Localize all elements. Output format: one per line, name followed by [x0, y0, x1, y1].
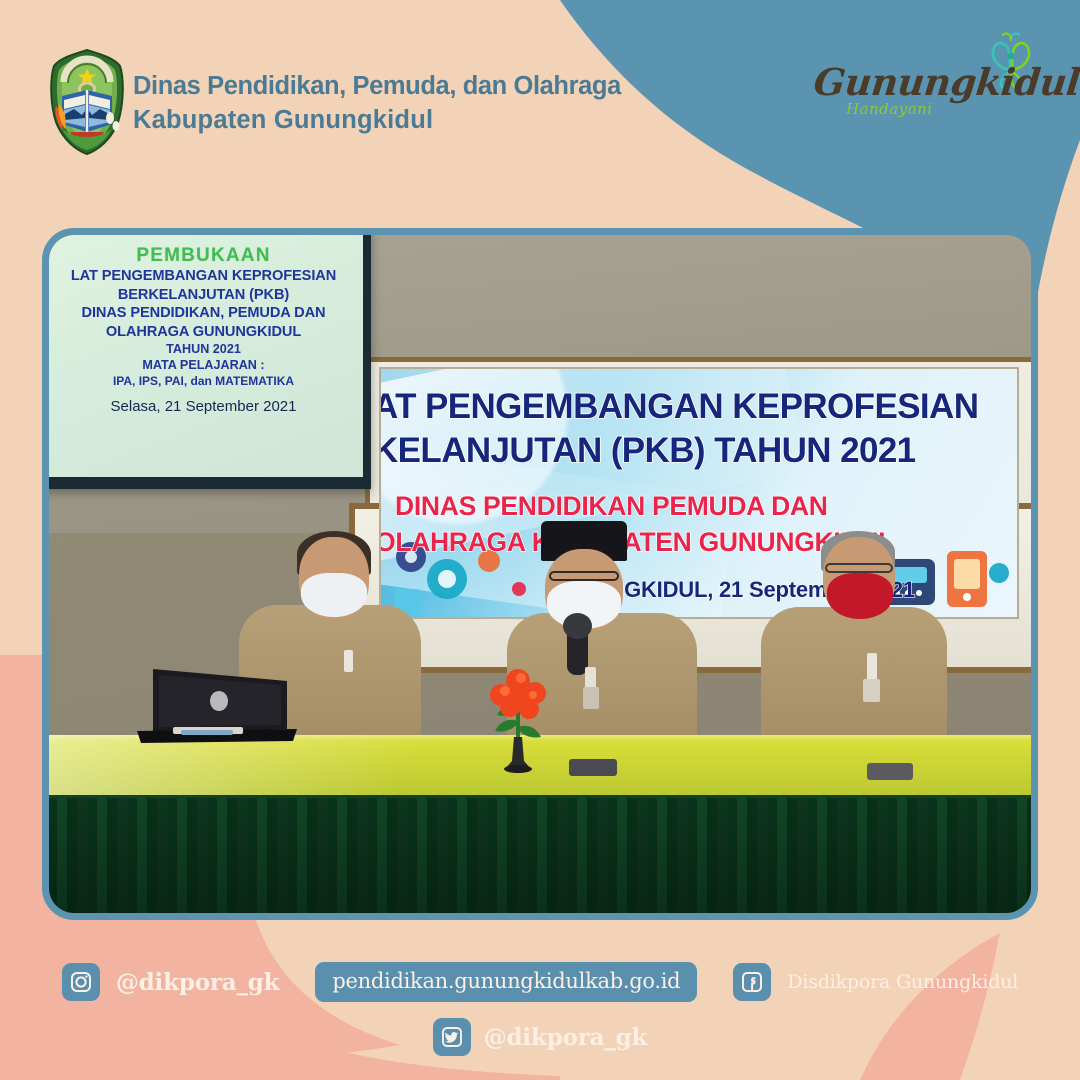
- website-url[interactable]: pendidikan.gunungkidulkab.go.id: [315, 962, 697, 1002]
- gunungkidul-brand-logo: Gunungkidul Handayani: [814, 38, 1044, 128]
- eyeglasses-right: [825, 563, 893, 573]
- banner-line-2: KELANJUTAN (PKB) TAHUN 2021: [379, 431, 1019, 471]
- banner-line-4: OLAHRAGA KABUPATEN GUNUNGKIDUL: [379, 527, 894, 558]
- slide-line-4: OLAHRAGA GUNUNGKIDUL: [48, 323, 359, 342]
- department-title-line1: Dinas Pendidikan, Pemuda, dan Olahraga: [133, 69, 621, 103]
- page-header: Dinas Pendidikan, Pemuda, dan Olahraga K…: [0, 0, 1080, 200]
- instagram-icon[interactable]: [62, 963, 100, 1001]
- slide-line-5: TAHUN 2021: [48, 341, 359, 357]
- slide-date: Selasa, 21 September 2021: [48, 398, 359, 415]
- eyeglasses: [549, 571, 619, 581]
- instagram-handle: @dikpora_gk: [116, 969, 280, 996]
- brand-wordmark: Gunungkidul: [812, 60, 1080, 104]
- flower-vase-icon: [483, 633, 553, 773]
- brand-tagline: Handayani: [846, 100, 933, 118]
- event-banner: AT PENGEMBANGAN KEPROFESIAN KELANJUTAN (…: [379, 367, 1019, 619]
- head-table-skirt: [47, 795, 1038, 920]
- social-row-primary: @dikpora_gk pendidikan.gunungkidulkab.go…: [0, 962, 1080, 1002]
- slide-line-7: IPA, IPS, PAI, dan MATEMATIKA: [48, 373, 359, 389]
- department-title-line2: Kabupaten Gunungkidul: [133, 103, 621, 137]
- gunungkidul-regency-crest-icon: [48, 48, 126, 156]
- presentation-slide: PEMBUKAAN LAT PENGEMBANGAN KEPROFESIAN B…: [44, 233, 363, 477]
- department-title: Dinas Pendidikan, Pemuda, dan Olahraga K…: [133, 69, 621, 137]
- event-photo: AT PENGEMBANGAN KEPROFESIAN KELANJUTAN (…: [49, 235, 1031, 913]
- mobile-phone-center: [569, 759, 617, 776]
- projector-screen: PEMBUKAAN LAT PENGEMBANGAN KEPROFESIAN B…: [42, 229, 371, 489]
- twitter-handle: @dikpora_gk: [484, 1024, 648, 1051]
- social-row-secondary: @dikpora_gk: [0, 1018, 1080, 1056]
- slide-line-3: DINAS PENDIDIKAN, PEMUDA DAN: [48, 304, 359, 323]
- slide-title: PEMBUKAAN: [48, 245, 359, 267]
- social-footer: @dikpora_gk pendidikan.gunungkidulkab.go…: [0, 930, 1080, 1080]
- event-photo-frame: AT PENGEMBANGAN KEPROFESIAN KELANJUTAN (…: [42, 228, 1038, 920]
- twitter-icon[interactable]: [433, 1018, 471, 1056]
- banner-line-1: AT PENGEMBANGAN KEPROFESIAN: [379, 387, 1019, 427]
- facebook-page-name: Disdikpora Gunungkidul: [787, 971, 1018, 993]
- slide-line-1: LAT PENGEMBANGAN KEPROFESIAN: [48, 267, 359, 286]
- banner-line-3: DINAS PENDIDIKAN PEMUDA DAN: [395, 491, 828, 522]
- slide-line-2: BERKELANJUTAN (PKB): [48, 286, 359, 305]
- laptop-icon: [137, 667, 297, 745]
- slide-line-6: MATA PELAJARAN :: [48, 357, 359, 373]
- mobile-phone-right: [867, 763, 913, 780]
- facebook-icon[interactable]: [733, 963, 771, 1001]
